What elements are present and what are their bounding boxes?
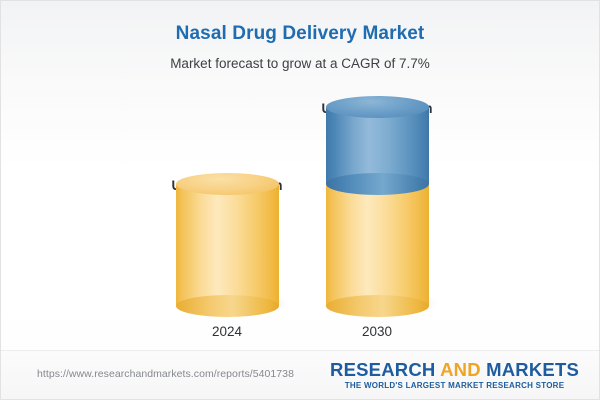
chart-plot-area: USD 59.67 Billion 2024 USD 92.91 Billion	[1, 93, 599, 343]
report-url[interactable]: https://www.researchandmarkets.com/repor…	[37, 368, 294, 380]
logo-word-research: RESEARCH	[330, 359, 435, 380]
bar-segment-base-2030	[326, 184, 429, 306]
bar-segment-bottom-ellipse	[326, 173, 429, 195]
category-label-2030: 2030	[302, 324, 452, 339]
logo-word-and: AND	[440, 359, 481, 380]
bar-segment-body	[176, 184, 279, 306]
bar-segment-bottom-ellipse	[326, 295, 429, 317]
bar-cylinder-2030	[326, 107, 429, 306]
chart-header: Nasal Drug Delivery Market Market foreca…	[1, 1, 599, 72]
research-and-markets-logo[interactable]: RESEARCH AND MARKETS THE WORLD'S LARGEST…	[330, 360, 579, 391]
bar-group-2024: USD 59.67 Billion 2024	[152, 93, 302, 343]
bar-segment-top-ellipse	[176, 173, 279, 195]
chart-subtitle: Market forecast to grow at a CAGR of 7.7…	[1, 55, 599, 72]
category-label-2024: 2024	[152, 324, 302, 339]
bar-segment-base-2024	[176, 184, 279, 306]
bar-segment-top-ellipse	[326, 96, 429, 118]
footer-bar: https://www.researchandmarkets.com/repor…	[1, 350, 599, 399]
bar-group-2030: USD 92.91 Billion 2030	[302, 93, 452, 343]
bar-segment-bottom-ellipse	[176, 295, 279, 317]
logo-wordmark: RESEARCH AND MARKETS	[330, 360, 579, 380]
logo-word-markets: MARKETS	[486, 359, 579, 380]
bar-segment-growth-2030	[326, 107, 429, 184]
bar-cylinder-2024	[176, 184, 279, 306]
infographic-canvas: Nasal Drug Delivery Market Market foreca…	[0, 0, 600, 400]
logo-tagline: THE WORLD'S LARGEST MARKET RESEARCH STOR…	[330, 381, 579, 391]
page-title: Nasal Drug Delivery Market	[1, 23, 599, 45]
bar-segment-body	[326, 184, 429, 306]
